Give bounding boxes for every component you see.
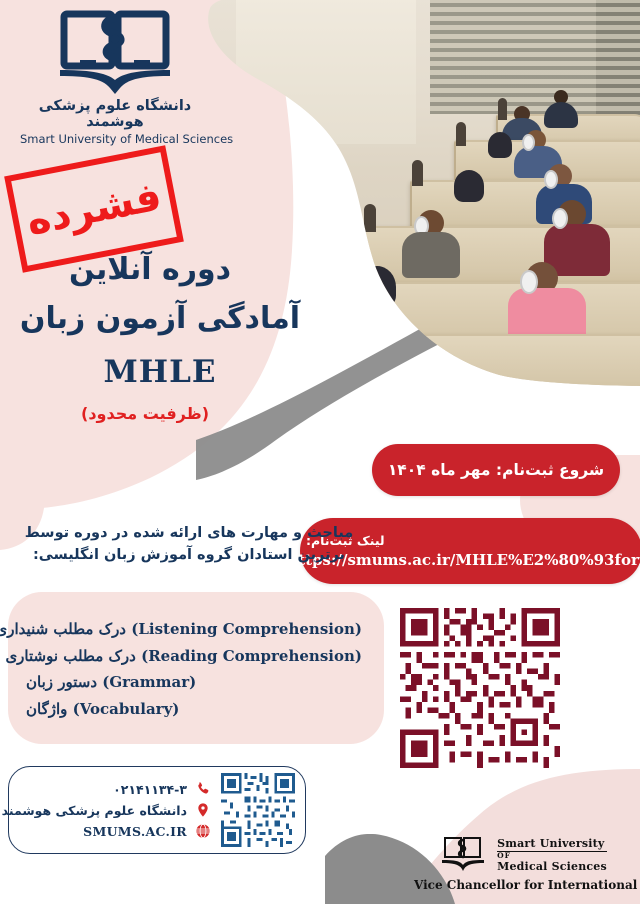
logo-title-fa: دانشگاه علوم پزشکی هوشمند: [20, 98, 210, 130]
contact-address-text: دانشگاه علوم پزشکی هوشمند: [2, 803, 187, 818]
location-pin-icon: [195, 802, 211, 818]
stamp-label: فشرده: [23, 176, 164, 241]
course-intro-text: مباحث و مهارت های ارائه شده در دوره توسط…: [8, 522, 370, 567]
laptop-book-caduceus-icon: [437, 835, 489, 875]
contact-phone-text: ۰۲۱۴۱۱۳۴-۳: [113, 782, 187, 797]
skill-item: (Reading Comprehension) درک مطلب نوشتاری: [26, 645, 362, 668]
contact-website-text[interactable]: SMUMS.AC.IR: [83, 824, 187, 839]
contact-card: ۰۲۱۴۱۱۳۴-۳ دانشگاه علوم پزشکی هوشمند: [8, 766, 306, 854]
skill-fa: درک مطلب نوشتاری: [5, 647, 135, 665]
university-logo: دانشگاه علوم پزشکی هوشمند Smart Universi…: [20, 8, 210, 146]
skill-item: (Listening Comprehension) درک مطلب شنیدا…: [26, 618, 362, 641]
qr-code-icon[interactable]: [221, 773, 295, 847]
contact-website-row[interactable]: SMUMS.AC.IR: [2, 823, 211, 839]
logo-title-en: Smart University of Medical Sciences: [20, 132, 210, 146]
skill-fa: دستور زبان: [26, 673, 97, 691]
skill-fa: واژگان: [26, 700, 67, 718]
skill-en: (Reading Comprehension): [141, 647, 362, 665]
headline-exam-name: MHLE: [0, 354, 330, 390]
skill-item: (Vocabulary) واژگان: [26, 698, 362, 721]
footer-logo-line-2: Medical Sciences: [497, 860, 607, 873]
registration-start-badge: شروع ثبت‌نام: مهر ماه ۱۴۰۴: [372, 444, 620, 496]
skills-list: (Listening Comprehension) درک مطلب شنیدا…: [8, 592, 384, 744]
footer-logo-subtitle: Vice Chancellor for International Affair…: [414, 878, 630, 892]
skill-en: (Listening Comprehension): [131, 620, 362, 638]
globe-icon: [195, 823, 211, 839]
footer-university-logo: Smart University OF Medical Sciences Vic…: [414, 835, 630, 892]
registration-start-text: شروع ثبت‌نام: مهر ماه ۱۴۰۴: [388, 461, 604, 479]
headline-block: دوره آنلاین آمادگی آزمون زبان MHLE (ظرفی…: [0, 252, 330, 423]
skill-en: (Grammar): [102, 673, 196, 691]
skill-en: (Vocabulary): [73, 700, 180, 718]
poster-canvas: دانشگاه علوم پزشکی هوشمند Smart Universi…: [0, 0, 640, 904]
contact-phone-row[interactable]: ۰۲۱۴۱۱۳۴-۳: [2, 781, 211, 797]
phone-icon: [195, 781, 211, 797]
laptop-book-caduceus-icon: [40, 8, 190, 94]
headline-capacity-note: (ظرفیت محدود): [0, 404, 330, 423]
footer-logo-line-1: Smart University: [497, 837, 607, 852]
skill-item: (Grammar) دستور زبان: [26, 671, 362, 694]
contact-address-row: دانشگاه علوم پزشکی هوشمند: [2, 802, 211, 818]
skill-fa: درک مطلب شنیداری: [0, 620, 126, 638]
qr-code-icon[interactable]: [400, 608, 560, 768]
headline-line-2: آمادگی آزمون زبان: [0, 301, 330, 336]
footer-logo-of: OF: [497, 852, 607, 860]
